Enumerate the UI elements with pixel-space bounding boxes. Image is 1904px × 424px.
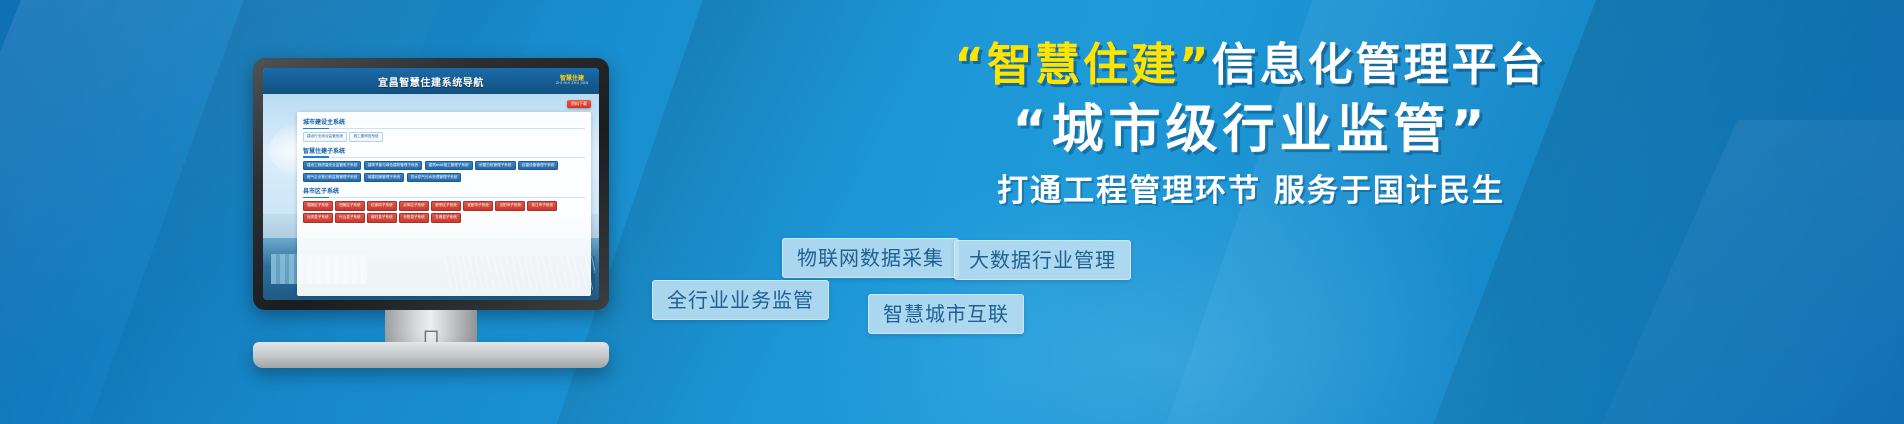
headline-line-2: “城市级行业监管”: [636, 99, 1866, 161]
screen-chip[interactable]: 起重设备管理子系统: [518, 161, 558, 171]
screen-chip[interactable]: 伍家岗子系统: [367, 201, 397, 211]
screen-chip[interactable]: 城建档案管理子系统: [364, 173, 404, 183]
screen-chip[interactable]: 五峰县子系统: [431, 213, 461, 223]
headline-line-3: 打通工程管理环节 服务于国计民生: [636, 173, 1866, 210]
screen-section-heading-main: 城市建设主系统: [303, 117, 585, 129]
screen-chip-group-sub: 建设工程质量安全监管电子系统 建筑节能与绿色建筑管理子系统 建筑ását施工管理…: [303, 161, 585, 183]
headline-line-1-rest: 信息化管理平台: [1212, 38, 1548, 91]
screen-chip[interactable]: 猇亭区子系统: [431, 201, 461, 211]
screen-chip[interactable]: 建筑节能与绿色建筑管理子系统: [364, 161, 422, 171]
feature-tag-smart-city[interactable]: 智慧城市互联: [868, 294, 1024, 334]
headline-block: “智慧住建”信息化管理平台 “城市级行业监管” 打通工程管理环节 服务于国计民生: [636, 38, 1866, 211]
screen-nav-panel: 城市建设主系统 建设行业综合监管系统 施工图审查系统 智慧住建子系统 建设工程质…: [297, 112, 591, 296]
screen-chip-group-county: 夷陵区子系统 西陵区子系统 伍家岗子系统 点军区子系统 猇亭区子系统 宜都市子系…: [303, 201, 585, 223]
screen-chip[interactable]: 建设行业综合监管系统: [303, 132, 347, 142]
screen-section-heading-county: 县市区子系统: [303, 186, 585, 198]
screen-logo: 智慧住建 ZHI HUI ZHU JIAN: [550, 71, 594, 90]
promo-banner: 宜昌智慧住建系统导航 智慧住建 ZHI HUI ZHU JIAN 资料下载 城市…: [0, 0, 1904, 424]
screen-chip[interactable]: 远安县子系统: [303, 213, 333, 223]
screen-section-heading-sub: 智慧住建子系统: [303, 146, 585, 158]
feature-tag-bigdata[interactable]: 大数据行业管理: [954, 240, 1131, 280]
monitor-illustration: 宜昌智慧住建系统导航 智慧住建 ZHI HUI ZHU JIAN 资料下载 城市…: [253, 58, 609, 310]
screen-logo-secondary: ZHI HUI ZHU JIAN: [556, 82, 589, 85]
screen-chip[interactable]: 宜都市子系统: [463, 201, 493, 211]
monitor-stand-base: [253, 342, 609, 368]
screen-title: 宜昌智慧住建系统导航: [378, 74, 484, 89]
headline-quoted-term: “智慧住建”: [954, 38, 1211, 91]
screen-download-button[interactable]: 资料下载: [567, 100, 591, 108]
screen-header: 宜昌智慧住建系统导航 智慧住建 ZHI HUI ZHU JIAN: [263, 68, 599, 94]
screen-chip[interactable]: 当阳市子系统: [495, 201, 525, 211]
screen-chip[interactable]: 兴山县子系统: [335, 213, 365, 223]
headline-line-1: “智慧住建”信息化管理平台: [636, 38, 1866, 91]
monitor-screen: 宜昌智慧住建系统导航 智慧住建 ZHI HUI ZHU JIAN 资料下载 城市…: [263, 68, 599, 300]
screen-chip[interactable]: 夷陵区子系统: [303, 201, 333, 211]
screen-chip[interactable]: 长阳县子系统: [399, 213, 429, 223]
screen-chip-group-main: 建设行业综合监管系统 施工图审查系统: [303, 132, 585, 142]
screen-chip[interactable]: 燃气企业登记和监管管理子系统: [303, 173, 361, 183]
monitor-bezel: 宜昌智慧住建系统导航 智慧住建 ZHI HUI ZHU JIAN 资料下载 城市…: [253, 58, 609, 310]
screen-chip[interactable]: 建设工程质量安全监管电子系统: [303, 161, 361, 171]
screen-chip[interactable]: 秭归县子系统: [367, 213, 397, 223]
screen-chip[interactable]: 点军区子系统: [399, 201, 429, 211]
feature-tag-business-supervision[interactable]: 全行业业务监管: [652, 280, 829, 320]
screen-chip[interactable]: 建筑ását施工管理子系统: [425, 161, 473, 171]
screen-chip[interactable]: 施工图审查系统: [349, 132, 382, 142]
screen-chip[interactable]: 供水供气污水处理管理子系统: [407, 173, 462, 183]
screen-chip[interactable]: 房屋白蚁管理子系统: [475, 161, 515, 171]
feature-tag-iot[interactable]: 物联网数据采集: [782, 238, 959, 278]
screen-chip[interactable]: 枝江市子系统: [527, 201, 557, 211]
screen-chip[interactable]: 西陵区子系统: [335, 201, 365, 211]
